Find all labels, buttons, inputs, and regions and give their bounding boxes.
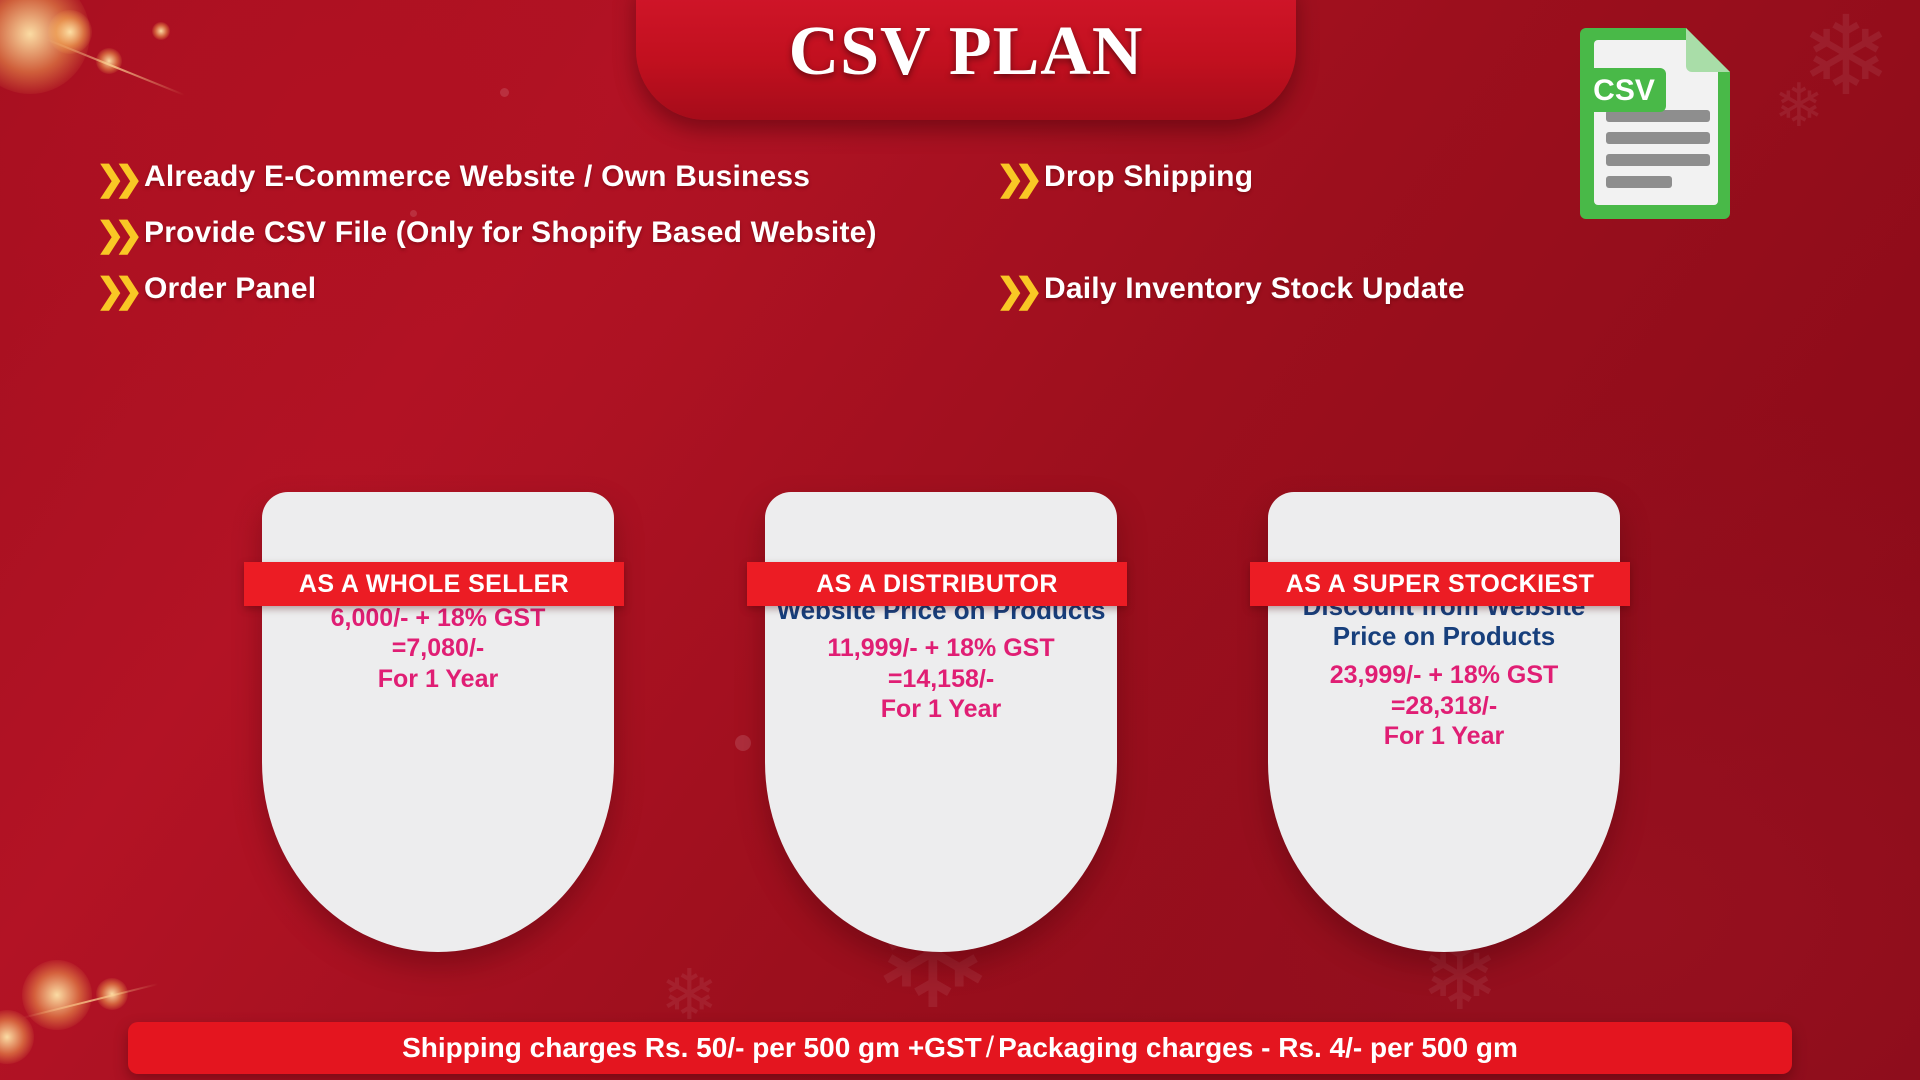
page-title: CSV PLAN [789, 12, 1144, 92]
list-item: ❯❯ Drop Shipping [996, 158, 1786, 198]
poster-canvas: ❄ ❄ ❄ ❄ ❄ CSV PLAN CSV ❯❯ Already E-Comm… [0, 0, 1920, 1080]
bokeh-light [48, 10, 92, 54]
plan-card-price-line: 11,999/- + 18% GST [775, 633, 1107, 664]
plan-card-ribbon-label: AS A DISTRIBUTOR [816, 570, 1058, 599]
plan-card-price-line: =7,080/- [272, 633, 604, 664]
status-badge: AS A SUPER STOCKIEST [1250, 562, 1630, 606]
plan-card-distributor[interactable]: AS A DISTRIBUTOR Get 10% Discount from W… [765, 492, 1117, 952]
plan-card-whole-seller[interactable]: AS A WHOLE SELLER Get Website Price 6,00… [262, 492, 614, 952]
plan-card-price-line: 23,999/- + 18% GST [1278, 660, 1610, 691]
page-title-banner: CSV PLAN [636, 0, 1296, 120]
csv-badge-label: CSV [1593, 74, 1655, 107]
plan-card-ribbon-label: AS A SUPER STOCKIEST [1286, 570, 1595, 599]
plan-card-ribbon-label: AS A WHOLE SELLER [299, 570, 569, 599]
decor-dot [500, 88, 509, 97]
chevron-right-icon: ❯❯ [996, 272, 1036, 310]
bokeh-light [0, 0, 90, 94]
status-badge: AS A DISTRIBUTOR [747, 562, 1127, 606]
list-item-label: Provide CSV File (Only for Shopify Based… [144, 214, 877, 252]
plan-card-body: Get 10% Discount from Website Price on P… [765, 492, 1117, 725]
plan-card-price-line: =14,158/- [775, 664, 1107, 695]
chevron-right-icon: ❯❯ [96, 160, 136, 198]
bokeh-light [152, 22, 170, 40]
chevron-right-icon: ❯❯ [96, 216, 136, 254]
bokeh-light [96, 48, 122, 74]
bokeh-light [22, 960, 92, 1030]
plan-card-price-line: For 1 Year [1278, 721, 1610, 752]
status-badge: AS A WHOLE SELLER [244, 562, 624, 606]
list-item-label: Drop Shipping [1044, 158, 1253, 196]
plan-card-super-stockiest[interactable]: AS A SUPER STOCKIEST Get Avg. 18% to 20%… [1268, 492, 1620, 952]
chevron-right-icon: ❯❯ [96, 272, 136, 310]
list-item: ❯❯ Provide CSV File (Only for Shopify Ba… [96, 214, 886, 254]
decor-dot [735, 735, 751, 751]
plan-card-body: Get Avg. 18% to 20% Discount from Websit… [1268, 492, 1620, 752]
footer-packaging-charges: Packaging charges - Rs. 4/- per 500 gm [998, 1032, 1518, 1064]
snowflake-icon: ❄ [1800, 2, 1892, 112]
plan-card-price-line: 6,000/- + 18% GST [272, 603, 604, 634]
list-item: ❯❯ Daily Inventory Stock Update [996, 270, 1786, 310]
list-item: ❯❯ Already E-Commerce Website / Own Busi… [96, 158, 886, 198]
chevron-right-icon: ❯❯ [996, 160, 1036, 198]
bokeh-light [0, 1010, 34, 1064]
list-item-label: Order Panel [144, 270, 316, 308]
sparkle-line [22, 983, 158, 1019]
feature-list-left: ❯❯ Already E-Commerce Website / Own Busi… [96, 158, 886, 326]
footer-bar: Shipping charges Rs. 50/- per 500 gm +GS… [128, 1022, 1792, 1074]
snowflake-icon: ❄ [1774, 76, 1824, 136]
list-item-label: Daily Inventory Stock Update [1044, 270, 1465, 308]
list-item: ❯❯ Order Panel [96, 270, 886, 310]
bokeh-light [96, 978, 128, 1010]
footer-separator: / [986, 1031, 994, 1065]
feature-list-right: ❯❯ Drop Shipping ❯❯ Daily Inventory Stoc… [996, 158, 1786, 326]
snowflake-icon: ❄ [660, 960, 719, 1030]
plan-card-price-line: For 1 Year [272, 664, 604, 695]
plan-card-price-line: =28,318/- [1278, 691, 1610, 722]
footer-shipping-charges: Shipping charges Rs. 50/- per 500 gm +GS… [402, 1032, 982, 1064]
sparkle-line [45, 38, 185, 96]
list-item-label: Already E-Commerce Website / Own Busines… [144, 158, 810, 196]
plan-card-price-line: For 1 Year [775, 694, 1107, 725]
